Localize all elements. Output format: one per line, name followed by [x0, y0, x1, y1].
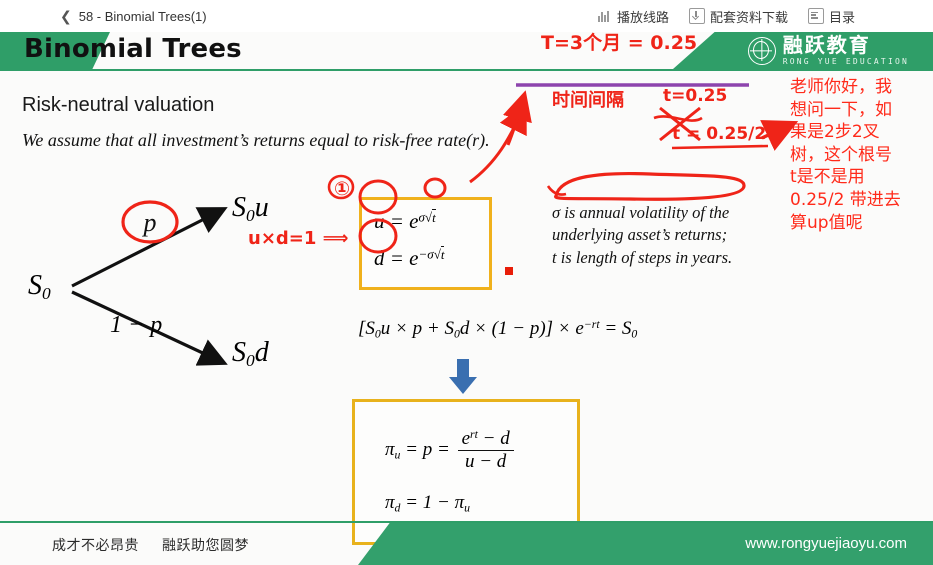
- ud-formula-box: u = eσ√t d = e−σ√t: [359, 197, 492, 290]
- risk-neutral-equation: [S0u × p + S0d × (1 − p)] × e−rt = S0: [358, 318, 637, 341]
- question-line-7: 算up值呢: [790, 212, 933, 235]
- footer-slogan: 成才不必昂贵 融跃助您圆梦: [52, 535, 267, 555]
- question-line-6: 0.25/2 带进去: [790, 189, 933, 212]
- blue-down-arrow-icon: [448, 359, 478, 395]
- u-formula: u = eσ√t: [374, 209, 436, 234]
- table-of-contents-label: 目录: [829, 7, 855, 26]
- footer-slogan-left: 成才不必昂贵: [52, 538, 139, 554]
- materials-download-label: 配套资料下载: [710, 7, 788, 26]
- playback-route-label: 播放线路: [617, 7, 669, 26]
- pi-up-formula: πu = p = ert − du − d: [385, 428, 517, 473]
- tree-root-label: S0: [28, 270, 51, 304]
- back-navigation[interactable]: ❮ 58 - Binomial Trees(1): [60, 6, 207, 26]
- footer-url: www.rongyuejiaoyu.com: [745, 535, 907, 552]
- download-icon: [689, 8, 705, 24]
- globe-icon: [748, 37, 776, 65]
- table-of-contents-button[interactable]: 目录: [808, 7, 855, 26]
- handwriting-circled-one: ①: [334, 178, 350, 200]
- footer-slogan-right: 融跃助您圆梦: [162, 538, 249, 554]
- logo-name-en: RONG YUE EDUCATION: [783, 58, 909, 66]
- handwriting-t-equals-025: t=0.25: [663, 86, 727, 106]
- binomial-tree-diagram: S0 S0u S0d 1 − p: [0, 182, 330, 402]
- section-heading: Risk-neutral valuation: [22, 94, 214, 117]
- question-line-3: 果是2步2叉: [790, 121, 933, 144]
- materials-download-button[interactable]: 配套资料下载: [689, 7, 788, 26]
- playback-route-button[interactable]: 播放线路: [598, 7, 669, 26]
- handwriting-T-three-months: T=3个月 = 0.25: [541, 28, 697, 55]
- sigma-definition-note: σ is annual volatility of the underlying…: [552, 202, 807, 269]
- sigma-note-line-3: t is length of steps in years.: [552, 247, 807, 269]
- signal-bars-icon: [598, 9, 612, 23]
- handwriting-time-interval: 时间间隔: [552, 86, 624, 112]
- sigma-note-line-1: σ is annual volatility of the: [552, 202, 807, 224]
- logo-name-cn: 融跃教育: [783, 35, 909, 55]
- sigma-note-line-2: underlying asset’s returns;: [552, 224, 807, 246]
- list-icon: [808, 8, 824, 24]
- header-green-rule: [0, 69, 933, 71]
- student-question-note: 老师你好，我 想问一下，如 果是2步2叉 树，这个根号 t是不是用 0.25/2…: [790, 76, 933, 234]
- logo-text: 融跃教育 RONG YUE EDUCATION: [783, 35, 909, 66]
- d-formula: d = e−σ√t: [374, 246, 444, 271]
- assumption-text: We assume that all investment’s returns …: [22, 130, 490, 151]
- footer-green-rule: [0, 521, 933, 523]
- question-line-5: t是不是用: [790, 166, 933, 189]
- top-actions: 播放线路 配套资料下载 目录: [598, 6, 855, 26]
- brand-logo: 融跃教育 RONG YUE EDUCATION: [748, 35, 909, 66]
- top-app-bar: ❮ 58 - Binomial Trees(1) 播放线路 配套资料下载 目录: [0, 0, 933, 32]
- slide-header-band: Binomial Trees 融跃教育 RONG YUE EDUCATION: [0, 32, 933, 72]
- tree-down-probability-label: 1 − p: [110, 312, 162, 339]
- tree-up-node-label: S0u: [232, 192, 269, 226]
- handwriting-u-times-d: u×d=1 ⟹: [248, 228, 348, 249]
- slide-title: Binomial Trees: [24, 34, 242, 64]
- red-bullet-mark: [505, 267, 513, 275]
- tree-down-node-label: S0d: [232, 337, 269, 371]
- question-line-4: 树，这个根号: [790, 144, 933, 167]
- question-line-1: 老师你好，我: [790, 76, 933, 99]
- chevron-left-icon[interactable]: ❮: [60, 9, 72, 23]
- pi-down-formula: πd = 1 − πu: [385, 492, 470, 515]
- lesson-title: 58 - Binomial Trees(1): [79, 9, 207, 24]
- handwriting-t-equals-025-over-2: t = 0.25/2: [672, 124, 766, 144]
- slide-footer: 成才不必昂贵 融跃助您圆梦 www.rongyuejiaoyu.com: [0, 521, 933, 565]
- question-line-2: 想问一下，如: [790, 99, 933, 122]
